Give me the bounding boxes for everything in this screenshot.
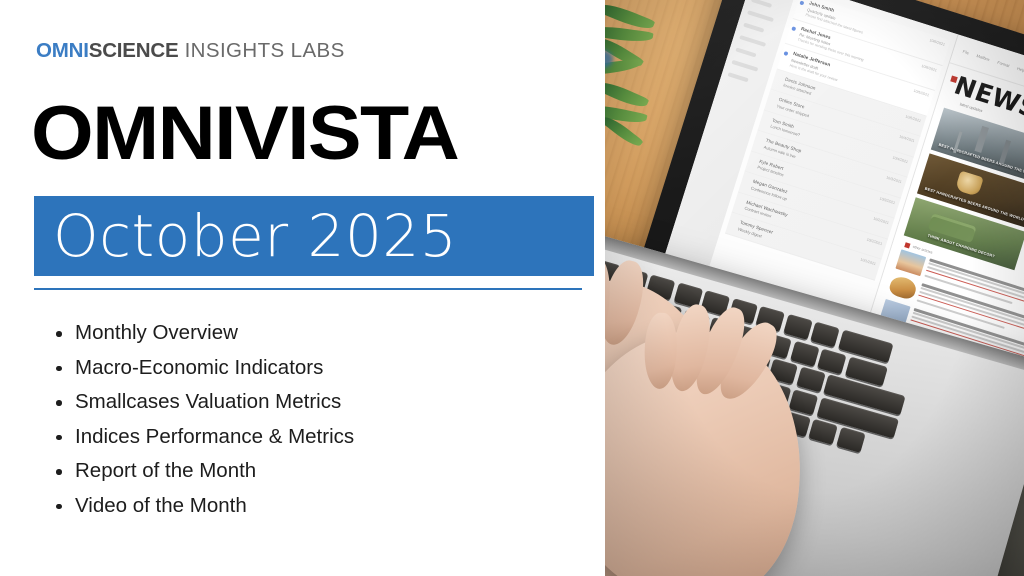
brand-science-text: SCIENCE <box>89 39 179 62</box>
red-square-icon <box>904 242 910 248</box>
left-content-panel: OMNISCIENCE INSIGHTS LABS OMNIVISTA Octo… <box>0 0 605 576</box>
toolbar-chip-mailbox[interactable]: Mailbox <box>976 53 991 62</box>
article-thumbnail <box>888 274 919 301</box>
brand-tagline-text: INSIGHTS LABS <box>178 39 344 62</box>
brand-omni-text: OMNI <box>36 39 89 62</box>
list-item: Indices Performance & Metrics <box>47 420 354 455</box>
hero-photo: John Smith Quarterly update Please find … <box>605 0 1024 576</box>
brand-logo: OMNISCIENCE INSIGHTS LABS <box>36 41 345 62</box>
section-divider <box>34 288 582 290</box>
newsletter-cover-slide: OMNISCIENCE INSIGHTS LABS OMNIVISTA Octo… <box>0 0 1024 576</box>
list-item: Smallcases Valuation Metrics <box>47 385 354 420</box>
list-item: Macro-Economic Indicators <box>47 351 354 386</box>
date-banner: October 2025 <box>34 196 594 276</box>
list-item: Monthly Overview <box>47 316 354 351</box>
plant-icon <box>605 4 675 154</box>
toolbar-chip-format[interactable]: Format <box>997 60 1011 69</box>
topic-list: Monthly Overview Macro-Economic Indicato… <box>47 316 354 524</box>
toolbar-chip-file[interactable]: File <box>962 49 970 56</box>
article-thumbnail <box>895 249 926 276</box>
list-item: Report of the Month <box>47 454 354 489</box>
list-item: Video of the Month <box>47 489 354 524</box>
date-banner-label: October 2025 <box>34 207 457 265</box>
toolbar-chip-help[interactable]: Help <box>1016 66 1024 73</box>
page-title: OMNIVISTA <box>31 96 458 172</box>
